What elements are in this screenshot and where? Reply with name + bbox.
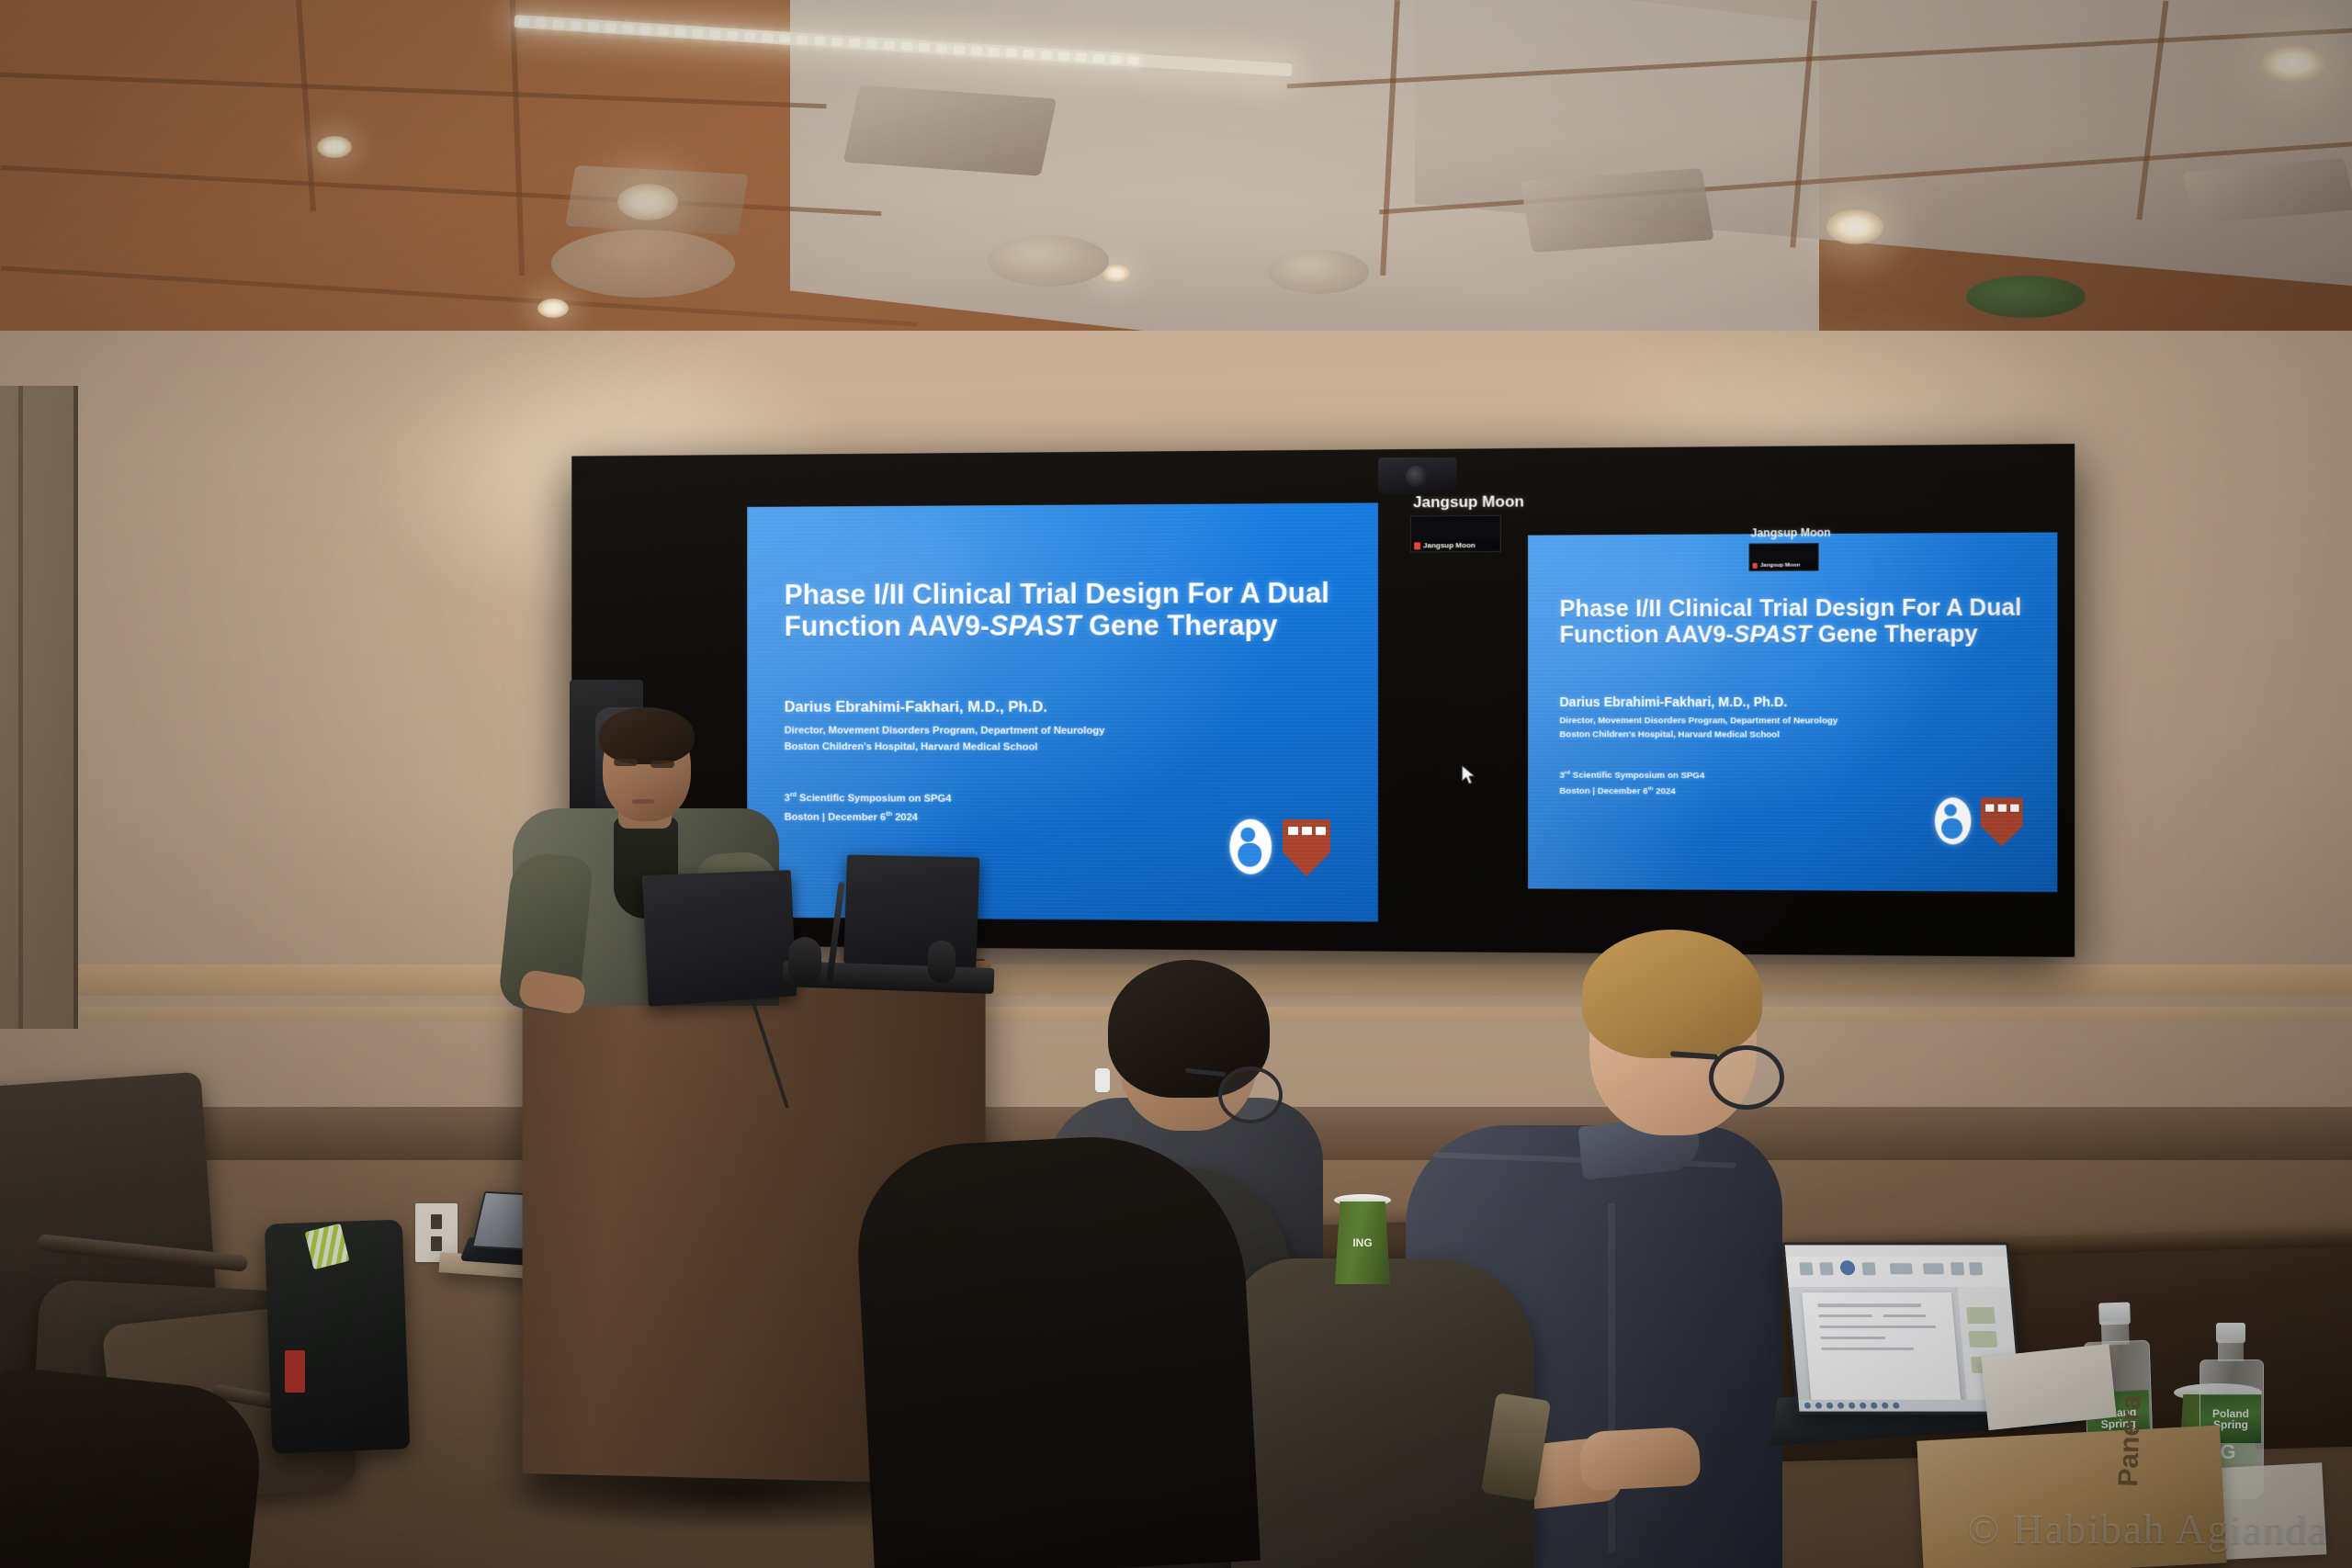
attendee-hair-blond: [1582, 930, 1762, 1058]
backpack-red-item: [285, 1350, 305, 1393]
conference-room-scene: Phase I/II Clinical Trial Design For A D…: [0, 0, 2352, 1568]
slide-title-line-2-pre: Function AAV9-: [785, 610, 989, 642]
ceiling-downlight: [1826, 209, 1883, 244]
slide-title-right: Phase I/II Clinical Trial Design For A D…: [1559, 594, 2052, 649]
attendee-glasses: [1218, 1066, 1283, 1123]
attendee-earbud: [1095, 1068, 1110, 1092]
slide-title-line-1: Phase I/II Clinical Trial Design For A D…: [785, 577, 1329, 611]
presenter-eyebrow-right: [650, 761, 674, 768]
slide-title-gene-italic: SPAST: [989, 610, 1080, 642]
display-panel-right[interactable]: Phase I/II Clinical Trial Design For A D…: [1528, 533, 2057, 892]
slide-title-left: Phase I/II Clinical Trial Design For A D…: [785, 577, 1362, 642]
cup-brand-text: ING: [1334, 1236, 1391, 1249]
ceiling-downlight: [537, 299, 569, 318]
slide-affiliation: Director, Movement Disorders Program, De…: [785, 724, 1105, 757]
slide-event-year: 2024: [1653, 786, 1675, 796]
slide-event-name: Scientific Symposium on SPG4: [1570, 771, 1704, 781]
laptop-ribbon-toolbar[interactable]: [1786, 1256, 2010, 1288]
ceiling-air-diffuser: [565, 165, 749, 235]
podium-second-monitor[interactable]: [843, 854, 979, 969]
ceiling-downlight: [317, 136, 352, 158]
zoom-video-tile-left[interactable]: Jangsup Moon: [1410, 515, 1501, 553]
slide-presenter-name: Darius Ebrahimi-Fakhari, M.D., Ph.D.: [785, 698, 1047, 716]
conference-camera: [1378, 457, 1457, 494]
video-tile-label-left: Jangsup Moon: [1413, 492, 1524, 512]
harvard-medical-school-shield: [1981, 797, 2023, 846]
display-panel-left[interactable]: Phase I/II Clinical Trial Design For A D…: [747, 502, 1378, 921]
video-tile-label-right: Jangsup Moon: [1751, 526, 1831, 540]
ceiling-grid-line: [296, 0, 316, 211]
attendee-glasses: [1709, 1045, 1784, 1110]
paper-bag-brand-text: Panera: [2113, 1394, 2147, 1487]
ceiling-air-diffuser: [843, 85, 1057, 175]
ceiling-speaker: [1268, 250, 1369, 294]
slide-title-line-1: Phase I/II Clinical Trial Design For A D…: [1559, 594, 2021, 622]
slide-event-info: 3rd Scientific Symposium on SPG4 Boston …: [785, 788, 952, 827]
slide-affiliation-line-2: Boston Children's Hospital, Harvard Medi…: [785, 741, 1038, 752]
slide-affiliation-line-1: Director, Movement Disorders Program, De…: [785, 726, 1105, 737]
monitor-mount-joint: [788, 937, 821, 985]
photo-watermark: © Habibah Agianda: [1967, 1505, 2328, 1553]
slide-affiliation-line-1: Director, Movement Disorders Program, De…: [1559, 716, 1837, 726]
microphone-muted-icon: [1753, 563, 1758, 569]
ceiling-downlight: [2260, 44, 2326, 83]
door-jamb: [0, 386, 23, 1029]
ceiling-speaker: [988, 235, 1109, 287]
mouse-cursor-icon: [1461, 764, 1477, 786]
slide-title-line-2-pre: Function AAV9-: [1559, 622, 1734, 649]
coffee-cup-center[interactable]: ING: [1334, 1194, 1391, 1284]
zoom-video-tile-right[interactable]: Jangsup Moon: [1749, 543, 1819, 571]
slide-presenter-name: Darius Ebrahimi-Fakhari, M.D., Ph.D.: [1559, 694, 1787, 709]
slide-event-city-date: Boston | December 6: [1559, 786, 1647, 796]
podium-confidence-monitor[interactable]: [642, 870, 797, 1007]
foreground-chair-center[interactable]: [1231, 1258, 1534, 1568]
ceiling-grid-line: [0, 73, 827, 109]
boston-childrens-hospital-logo: [1229, 819, 1272, 874]
zoom-tile-name-left: Jangsup Moon: [1423, 541, 1476, 549]
ceiling-grid-line: [510, 0, 525, 276]
slide-affiliation-line-2: Boston Children's Hospital, Harvard Medi…: [1559, 729, 1779, 739]
ceiling-vent: [551, 230, 735, 298]
slide-title-gene-italic: SPAST: [1734, 622, 1811, 649]
laptop-document-page[interactable]: [1802, 1292, 1961, 1403]
boston-childrens-hospital-logo: [1935, 797, 1972, 844]
ceiling-grid-line: [1, 165, 882, 216]
foreground-coat: [853, 1129, 1261, 1568]
slide-affiliation: Director, Movement Disorders Program, De…: [1559, 715, 1837, 742]
napkin: [1981, 1344, 2117, 1430]
slide-event-year: 2024: [892, 812, 918, 823]
slide-event-info: 3rd Scientific Symposium on SPG4 Boston …: [1559, 769, 1704, 800]
slide-event-name: Scientific Symposium on SPG4: [797, 793, 951, 804]
monitor-mount-joint: [928, 941, 955, 983]
ceiling-green-exit-indicator: [1966, 276, 2086, 318]
presenter-hair: [599, 707, 695, 764]
zoom-tile-name-right: Jangsup Moon: [1760, 563, 1801, 569]
attendee-hand-right: [1578, 1427, 1701, 1492]
presenter-mouth: [632, 799, 654, 804]
microphone-muted-icon: [1414, 542, 1420, 549]
slide-title-line-2-post: Gene Therapy: [1081, 609, 1278, 641]
slide-title-line-2-post: Gene Therapy: [1811, 621, 1977, 648]
presenter-eyebrow-left: [614, 759, 638, 766]
ceiling-grid-line: [1, 265, 918, 326]
ceiling-air-diffuser: [1520, 168, 1713, 253]
harvard-medical-school-shield: [1283, 819, 1330, 876]
